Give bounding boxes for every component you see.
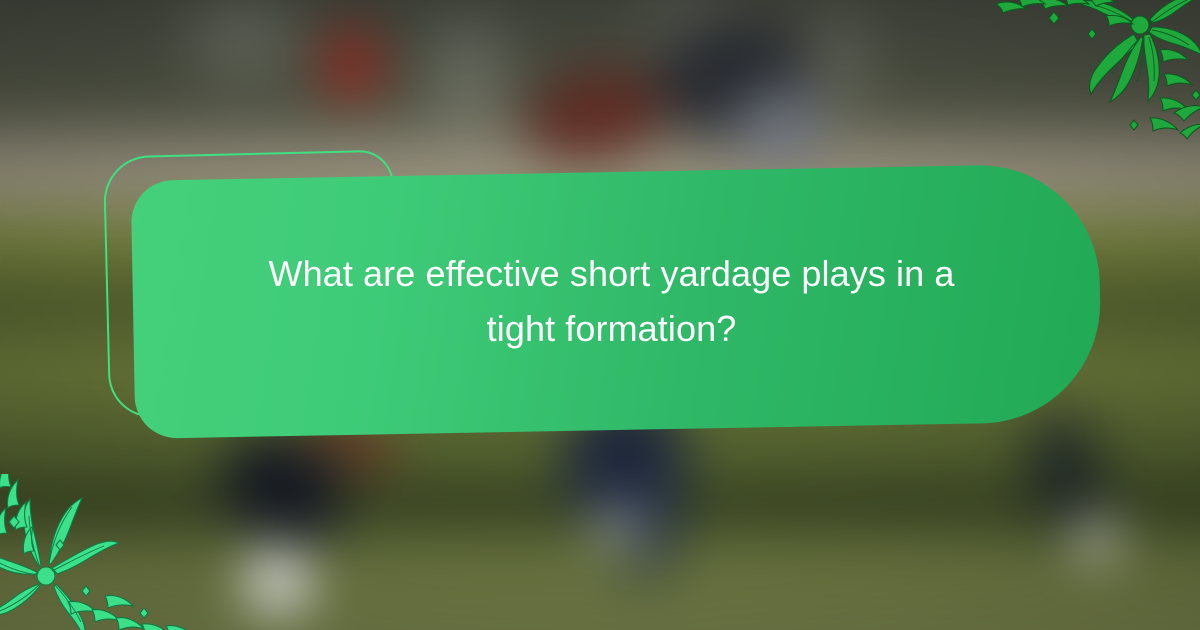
question-text: What are effective short yardage plays i… xyxy=(243,246,980,356)
question-card: What are effective short yardage plays i… xyxy=(131,163,1103,439)
question-card-banner: What are effective short yardage plays i… xyxy=(0,0,1200,630)
